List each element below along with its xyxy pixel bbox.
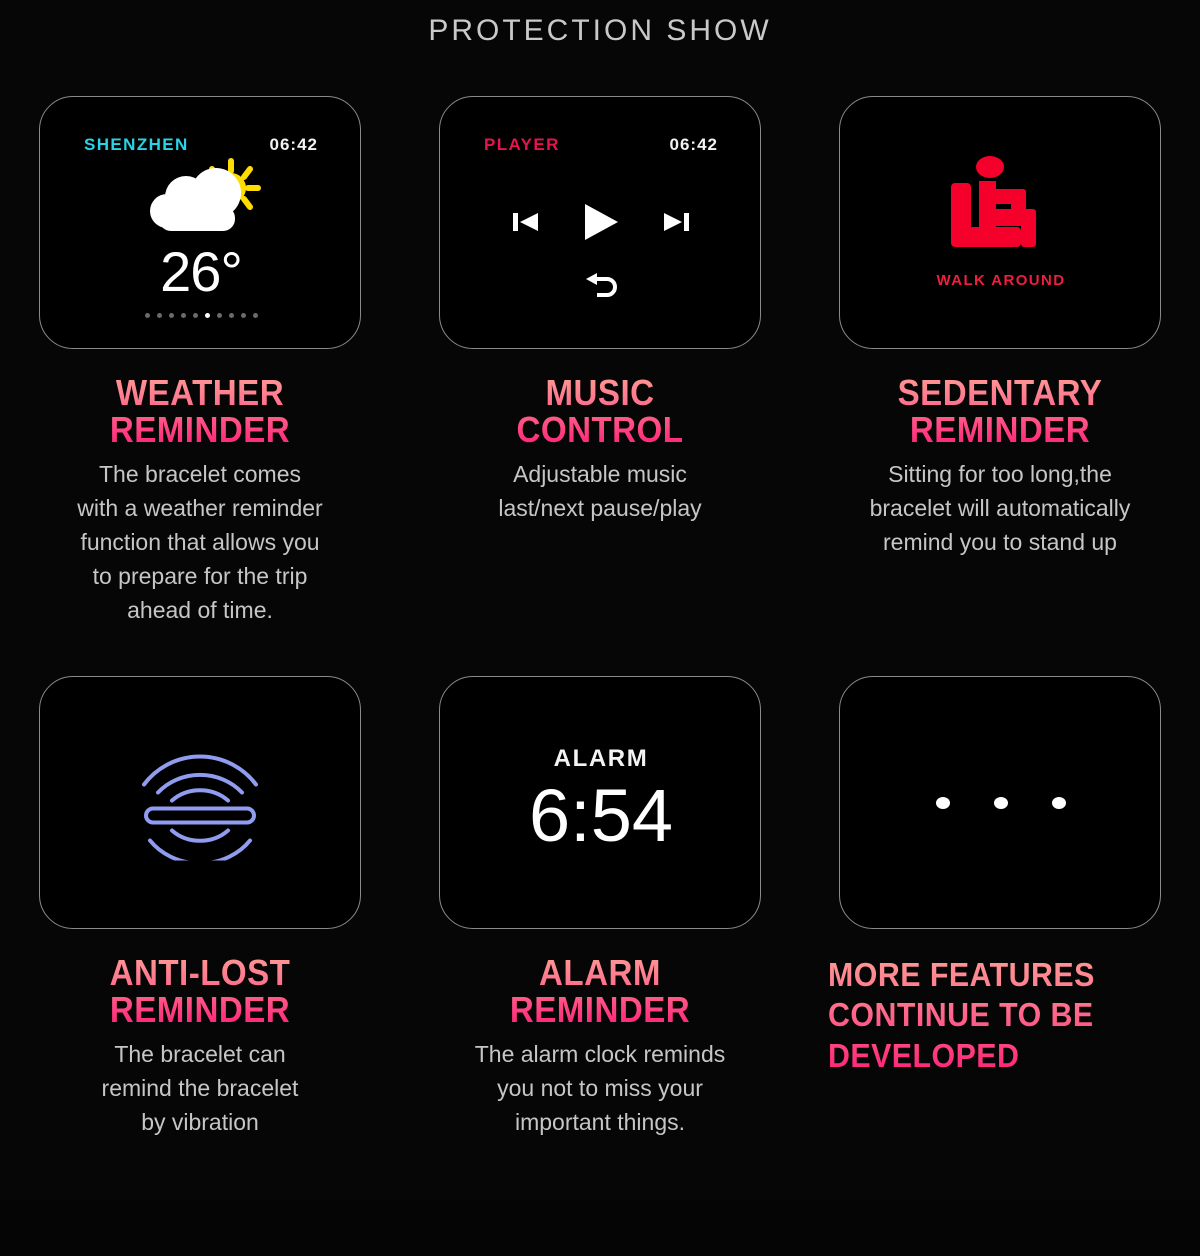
feature-card-weather: SHENZHEN 06:42 [0, 96, 400, 676]
player-controls [440, 202, 761, 247]
feature-card-sedentary: WALK AROUND SEDENTARY REMINDER Sitting f… [800, 96, 1200, 676]
headline-more: MORE FEATURES CONTINUE TO BE DEVELOPED [828, 955, 1159, 1076]
page-dot [241, 313, 246, 318]
headline-weather: WEATHER REMINDER [27, 375, 373, 448]
page-dot-active [205, 313, 210, 318]
ellipsis-dot [994, 797, 1008, 809]
headline-alarm: ALARM REMINDER [427, 955, 773, 1028]
feature-card-music: PLAYER 06:42 [400, 96, 800, 676]
play-icon[interactable] [582, 202, 620, 247]
body-anti-lost: The bracelet can remind the bracelet by … [12, 1038, 388, 1139]
caption-more: MORE FEATURES CONTINUE TO BE DEVELOPED [800, 955, 1200, 1076]
player-screen-topbar: PLAYER 06:42 [440, 135, 761, 155]
alarm-time: 6:54 [440, 773, 761, 858]
feature-card-alarm: ALARM 6:54 ALARM REMINDER The alarm cloc… [400, 676, 800, 1256]
page-dot [169, 313, 174, 318]
walk-around-label: WALK AROUND [840, 272, 1161, 289]
body-sedentary: Sitting for too long,the bracelet will a… [812, 458, 1188, 559]
seated-person-icon [945, 248, 1057, 265]
feature-card-more: MORE FEATURES CONTINUE TO BE DEVELOPED [800, 676, 1200, 1256]
body-weather: The bracelet comes with a weather remind… [12, 458, 388, 627]
feature-card-anti-lost: ANTI-LOST REMINDER The bracelet can remi… [0, 676, 400, 1256]
watch-screen-more[interactable] [839, 676, 1161, 929]
weather-location-label: SHENZHEN [84, 135, 189, 155]
weather-temperature: 26° [40, 239, 361, 304]
player-label: PLAYER [484, 135, 560, 155]
headline-music: MUSIC CONTROL [427, 375, 773, 448]
body-music: Adjustable music last/next pause/play [412, 458, 788, 526]
page-dot [229, 313, 234, 318]
watch-screen-player[interactable]: PLAYER 06:42 [439, 96, 761, 349]
vibration-waves-icon [130, 740, 270, 865]
player-clock: 06:42 [670, 135, 718, 155]
body-alarm: The alarm clock reminds you not to miss … [412, 1038, 788, 1139]
page-dot [157, 313, 162, 318]
watch-screen-alarm[interactable]: ALARM 6:54 [439, 676, 761, 929]
next-track-icon[interactable] [662, 209, 690, 240]
caption-music: MUSIC CONTROL Adjustable music last/next… [400, 375, 800, 526]
ellipsis-dot [936, 797, 950, 809]
weather-page-indicator[interactable] [40, 313, 361, 318]
ellipsis-dot [1052, 797, 1066, 809]
caption-sedentary: SEDENTARY REMINDER Sitting for too long,… [800, 375, 1200, 560]
page-title: PROTECTION SHOW [0, 14, 1200, 48]
page-dot [193, 313, 198, 318]
page-dot [181, 313, 186, 318]
alarm-label: ALARM [440, 745, 761, 773]
caption-weather: WEATHER REMINDER The bracelet comes with… [0, 375, 400, 627]
caption-anti-lost: ANTI-LOST REMINDER The bracelet can remi… [0, 955, 400, 1140]
headline-sedentary: SEDENTARY REMINDER [827, 375, 1173, 448]
watch-screen-weather[interactable]: SHENZHEN 06:42 [39, 96, 361, 349]
page-dot [253, 313, 258, 318]
feature-grid: SHENZHEN 06:42 [0, 96, 1200, 1256]
protection-show-page: PROTECTION SHOW SHENZHEN 06:42 [0, 0, 1200, 1200]
return-arrow-icon[interactable] [583, 269, 619, 302]
ellipsis-dots-icon [840, 797, 1161, 809]
previous-track-icon[interactable] [512, 209, 540, 240]
headline-anti-lost: ANTI-LOST REMINDER [27, 955, 373, 1028]
caption-alarm: ALARM REMINDER The alarm clock reminds y… [400, 955, 800, 1140]
watch-screen-sedentary[interactable]: WALK AROUND [839, 96, 1161, 349]
player-back-row [440, 269, 761, 302]
page-dot [145, 313, 150, 318]
page-dot [217, 313, 222, 318]
weather-clock: 06:42 [270, 135, 318, 155]
watch-screen-vibration[interactable] [39, 676, 361, 929]
sedentary-content: WALK AROUND [840, 153, 1161, 289]
sun-behind-cloud-icon [134, 157, 266, 241]
weather-screen-topbar: SHENZHEN 06:42 [40, 135, 361, 155]
